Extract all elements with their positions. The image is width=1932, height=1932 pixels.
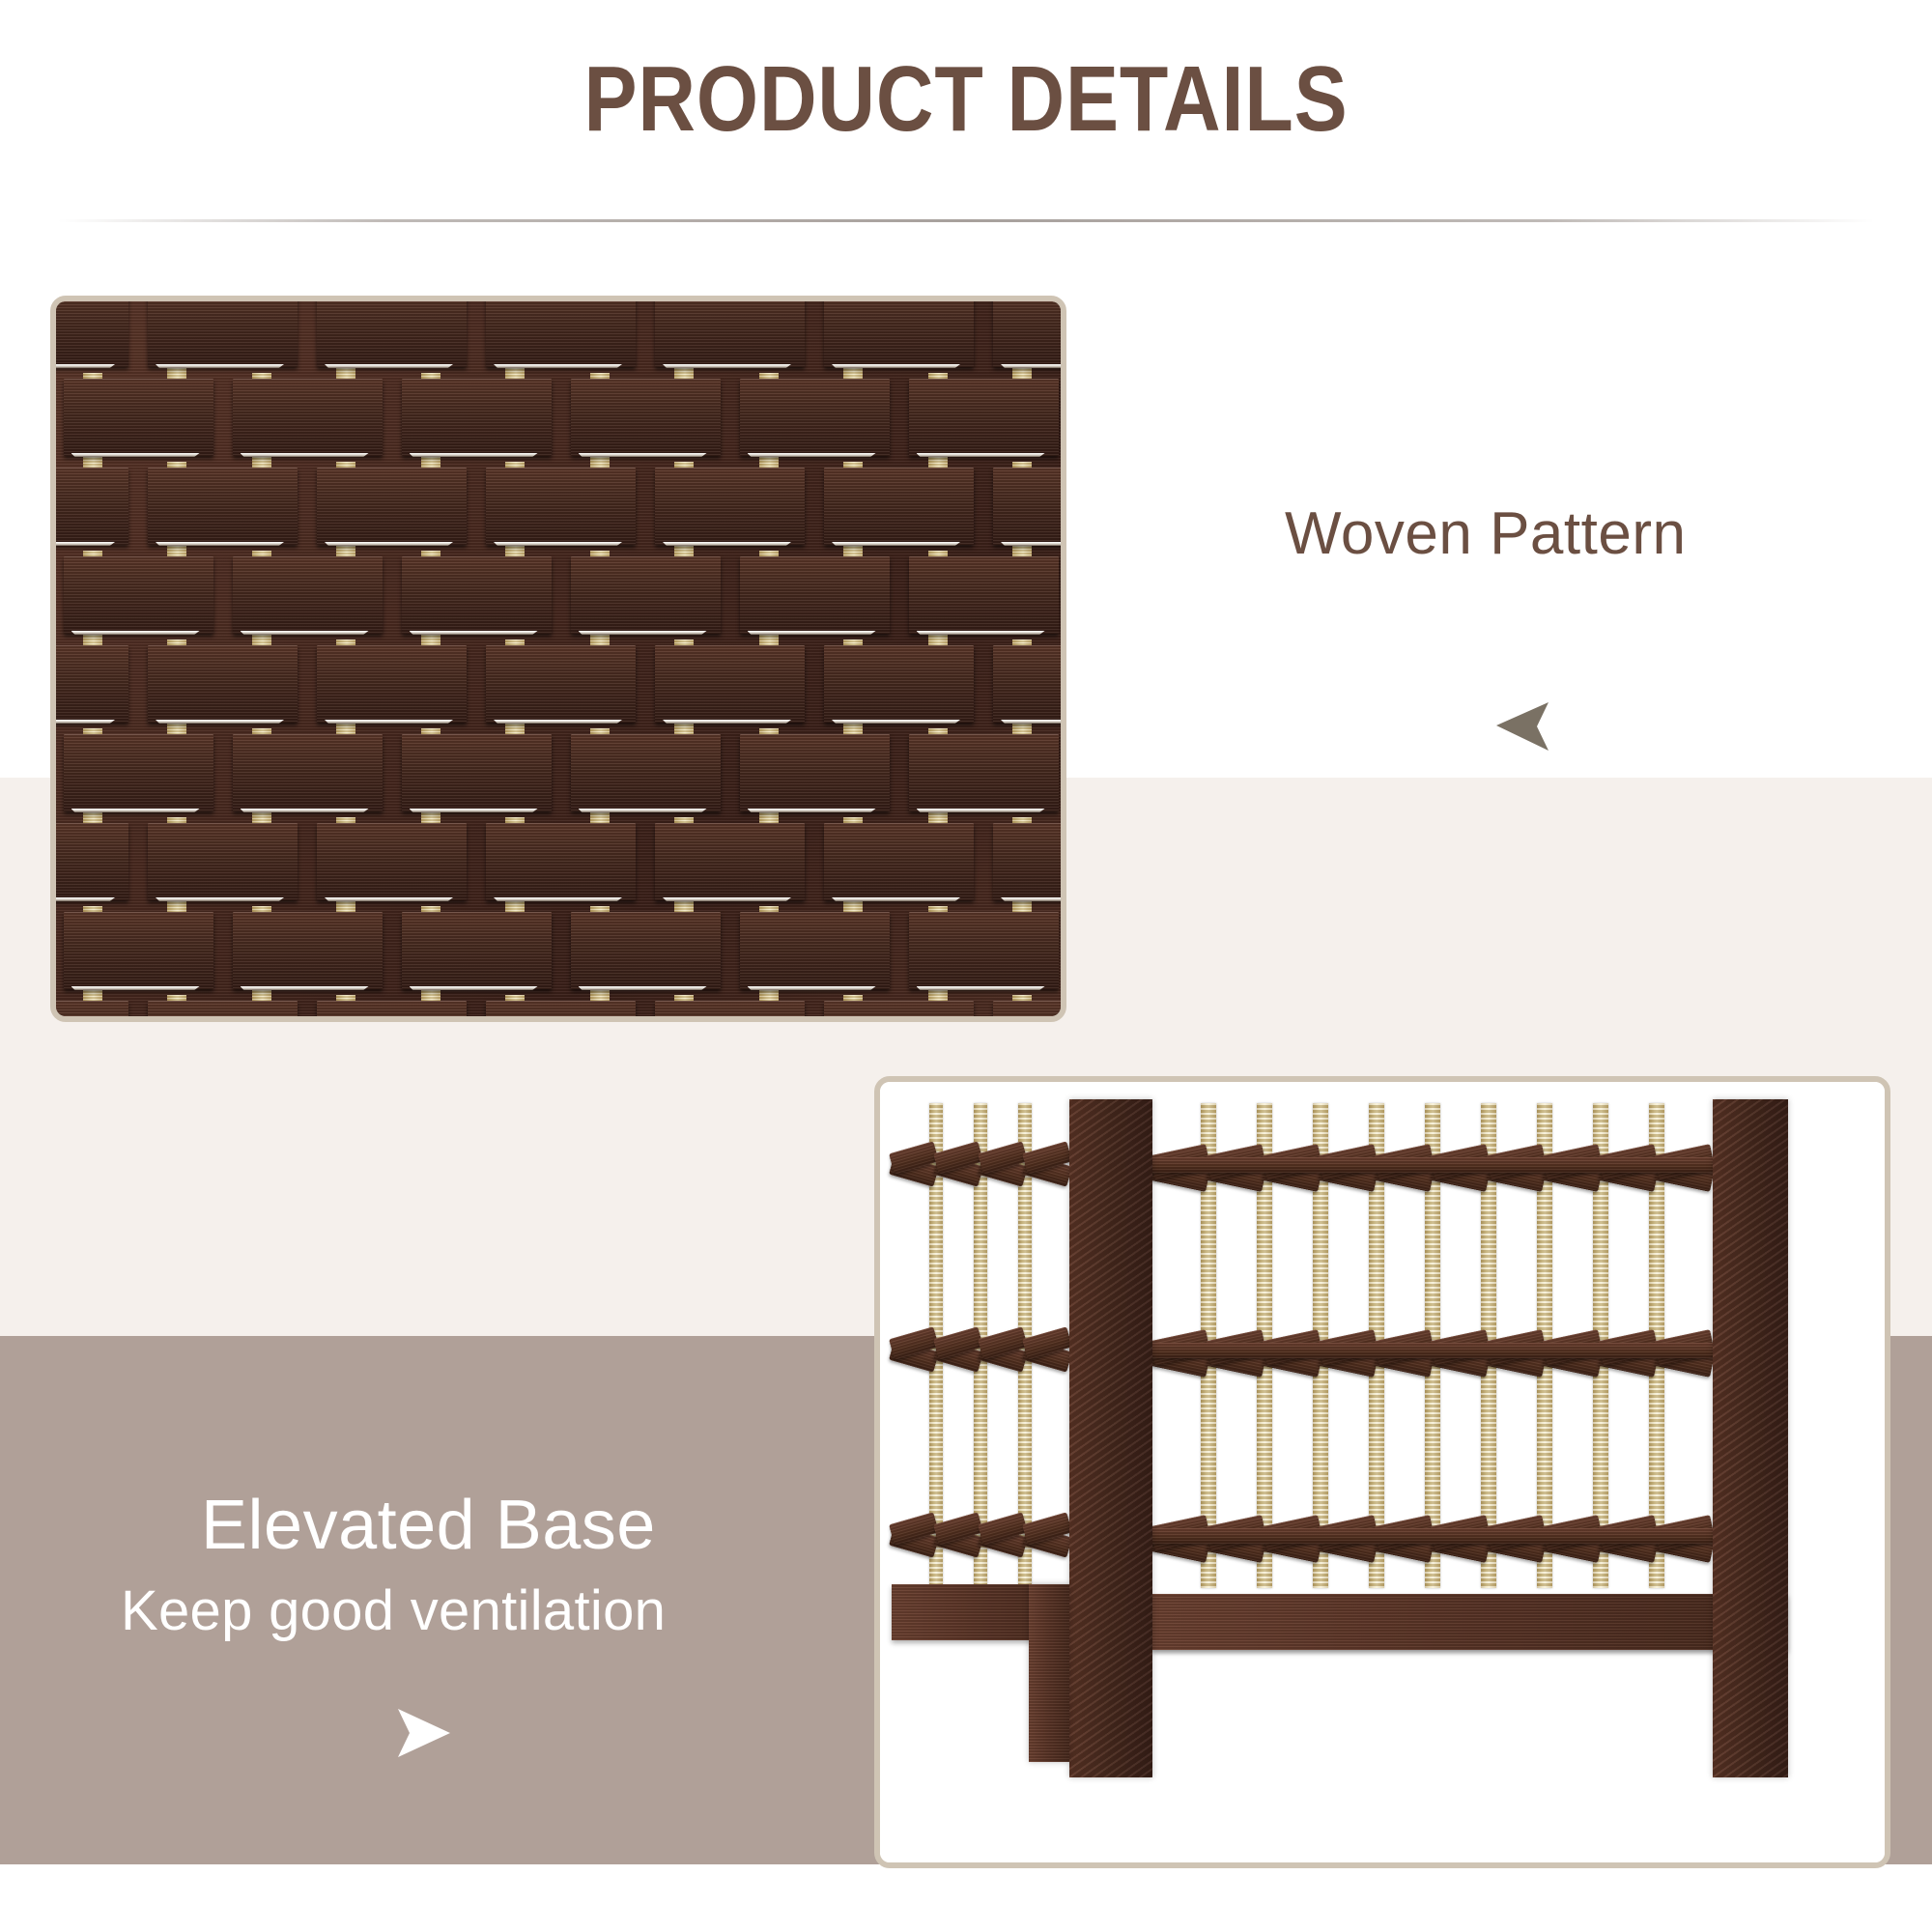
woven-horizontal-slat	[317, 468, 467, 545]
woven-horizontal-slat	[824, 296, 974, 367]
woven-gap-highlight	[50, 364, 115, 368]
woven-horizontal-slat	[824, 468, 974, 545]
planter-lattice-rail	[1135, 1528, 1730, 1544]
woven-horizontal-slat	[909, 734, 1059, 811]
woven-horizontal-slat	[50, 1001, 128, 1022]
woven-horizontal-slat	[50, 468, 128, 545]
woven-gap-highlight	[579, 809, 707, 812]
woven-gap-highlight	[663, 542, 791, 546]
woven-gap-highlight	[494, 364, 622, 368]
woven-texture	[56, 301, 1061, 1016]
woven-gap-highlight	[832, 364, 960, 368]
woven-horizontal-slat	[655, 468, 805, 545]
woven-gap-highlight	[50, 720, 115, 724]
woven-horizontal-slat	[148, 296, 298, 367]
woven-gap-highlight	[1001, 720, 1066, 724]
woven-pattern-caption: Woven Pattern	[1285, 499, 1686, 568]
woven-gap-highlight	[241, 631, 369, 635]
woven-horizontal-slat	[317, 1001, 467, 1022]
woven-gap-highlight	[325, 720, 453, 724]
woven-gap-highlight	[71, 631, 200, 635]
woven-horizontal-slat	[824, 823, 974, 900]
woven-gap-highlight	[241, 453, 369, 457]
woven-gap-highlight	[50, 897, 115, 901]
woven-gap-highlight	[663, 720, 791, 724]
woven-horizontal-slat	[993, 468, 1066, 545]
woven-horizontal-slat	[317, 645, 467, 723]
elevated-base-photo	[874, 1076, 1890, 1868]
woven-gap-highlight	[1001, 542, 1066, 546]
woven-gap-highlight	[156, 364, 284, 368]
woven-horizontal-slat	[993, 1001, 1066, 1022]
woven-horizontal-slat	[740, 556, 890, 634]
woven-horizontal-slat	[655, 645, 805, 723]
woven-horizontal-slat	[909, 556, 1059, 634]
header-divider	[58, 219, 1874, 222]
planter-rail-shadow	[1152, 1650, 1713, 1656]
woven-horizontal-slat	[993, 645, 1066, 723]
woven-gap-highlight	[917, 809, 1045, 812]
woven-gap-highlight	[917, 986, 1045, 990]
woven-horizontal-slat	[64, 379, 213, 456]
woven-horizontal-slat	[486, 823, 636, 900]
woven-gap-highlight	[748, 809, 876, 812]
planter-right-corner-post	[1713, 1099, 1788, 1777]
woven-gap-highlight	[410, 986, 538, 990]
woven-horizontal-slat	[64, 912, 213, 989]
woven-horizontal-slat	[909, 379, 1059, 456]
woven-horizontal-slat	[50, 645, 128, 723]
right-arrow-icon	[394, 1705, 454, 1761]
woven-horizontal-slat	[402, 379, 552, 456]
woven-horizontal-slat	[571, 556, 721, 634]
woven-horizontal-slat	[909, 912, 1059, 989]
woven-horizontal-slat	[824, 1001, 974, 1022]
woven-horizontal-slat	[402, 556, 552, 634]
woven-horizontal-slat	[740, 912, 890, 989]
woven-gap-highlight	[410, 453, 538, 457]
woven-horizontal-slat	[571, 379, 721, 456]
woven-horizontal-slat	[740, 379, 890, 456]
elevated-base-caption: Elevated Base	[201, 1486, 656, 1565]
woven-gap-highlight	[579, 631, 707, 635]
planter-front-left-corner-post	[1069, 1099, 1152, 1777]
woven-gap-highlight	[325, 897, 453, 901]
woven-gap-highlight	[71, 986, 200, 990]
woven-horizontal-slat	[655, 1001, 805, 1022]
page-title: PRODUCT DETAILS	[135, 46, 1797, 153]
woven-horizontal-slat	[655, 823, 805, 900]
woven-horizontal-slat	[571, 734, 721, 811]
woven-horizontal-slat	[402, 734, 552, 811]
woven-pattern-photo	[50, 296, 1066, 1022]
woven-horizontal-slat	[148, 468, 298, 545]
woven-gap-highlight	[325, 364, 453, 368]
woven-horizontal-slat	[993, 296, 1066, 367]
planter-illustration	[880, 1082, 1885, 1862]
woven-horizontal-slat	[50, 823, 128, 900]
woven-horizontal-slat	[148, 1001, 298, 1022]
woven-gap-highlight	[1001, 897, 1066, 901]
woven-horizontal-slat	[402, 912, 552, 989]
woven-gap-highlight	[748, 986, 876, 990]
woven-horizontal-slat	[571, 912, 721, 989]
woven-gap-highlight	[325, 542, 453, 546]
woven-horizontal-slat	[148, 645, 298, 723]
woven-gap-highlight	[917, 453, 1045, 457]
woven-horizontal-slat	[233, 734, 383, 811]
woven-gap-highlight	[494, 897, 622, 901]
woven-horizontal-slat	[993, 823, 1066, 900]
woven-gap-highlight	[494, 720, 622, 724]
woven-horizontal-slat	[148, 823, 298, 900]
planter-lattice-rail	[1135, 1343, 1730, 1358]
woven-gap-highlight	[832, 542, 960, 546]
woven-gap-highlight	[410, 631, 538, 635]
woven-horizontal-slat	[486, 468, 636, 545]
woven-gap-highlight	[663, 897, 791, 901]
planter-rear-leg	[1029, 1584, 1069, 1762]
woven-gap-highlight	[410, 809, 538, 812]
woven-horizontal-slat	[233, 379, 383, 456]
left-arrow-icon	[1492, 698, 1550, 754]
woven-horizontal-slat	[233, 556, 383, 634]
woven-horizontal-slat	[317, 296, 467, 367]
woven-horizontal-slat	[64, 734, 213, 811]
woven-horizontal-slat	[486, 296, 636, 367]
elevated-base-subcaption: Keep good ventilation	[121, 1578, 666, 1643]
woven-horizontal-slat	[824, 645, 974, 723]
woven-horizontal-slat	[740, 734, 890, 811]
woven-horizontal-slat	[50, 296, 128, 367]
planter-lattice-rail	[1135, 1157, 1730, 1173]
woven-gap-highlight	[156, 542, 284, 546]
woven-gap-highlight	[579, 986, 707, 990]
woven-horizontal-slat	[486, 645, 636, 723]
woven-gap-highlight	[50, 542, 115, 546]
woven-gap-highlight	[748, 453, 876, 457]
woven-gap-highlight	[71, 809, 200, 812]
woven-gap-highlight	[832, 720, 960, 724]
woven-gap-highlight	[241, 986, 369, 990]
woven-gap-highlight	[917, 631, 1045, 635]
woven-gap-highlight	[156, 897, 284, 901]
woven-gap-highlight	[748, 631, 876, 635]
woven-gap-highlight	[156, 720, 284, 724]
woven-gap-highlight	[494, 542, 622, 546]
woven-gap-highlight	[71, 453, 200, 457]
woven-gap-highlight	[579, 453, 707, 457]
planter-front-bottom-rail	[1152, 1594, 1788, 1650]
woven-horizontal-slat	[317, 823, 467, 900]
woven-gap-highlight	[832, 897, 960, 901]
woven-gap-highlight	[241, 809, 369, 812]
woven-horizontal-slat	[64, 556, 213, 634]
woven-horizontal-slat	[486, 1001, 636, 1022]
woven-horizontal-slat	[655, 296, 805, 367]
woven-gap-highlight	[663, 364, 791, 368]
woven-horizontal-slat	[233, 912, 383, 989]
woven-gap-highlight	[1001, 364, 1066, 368]
